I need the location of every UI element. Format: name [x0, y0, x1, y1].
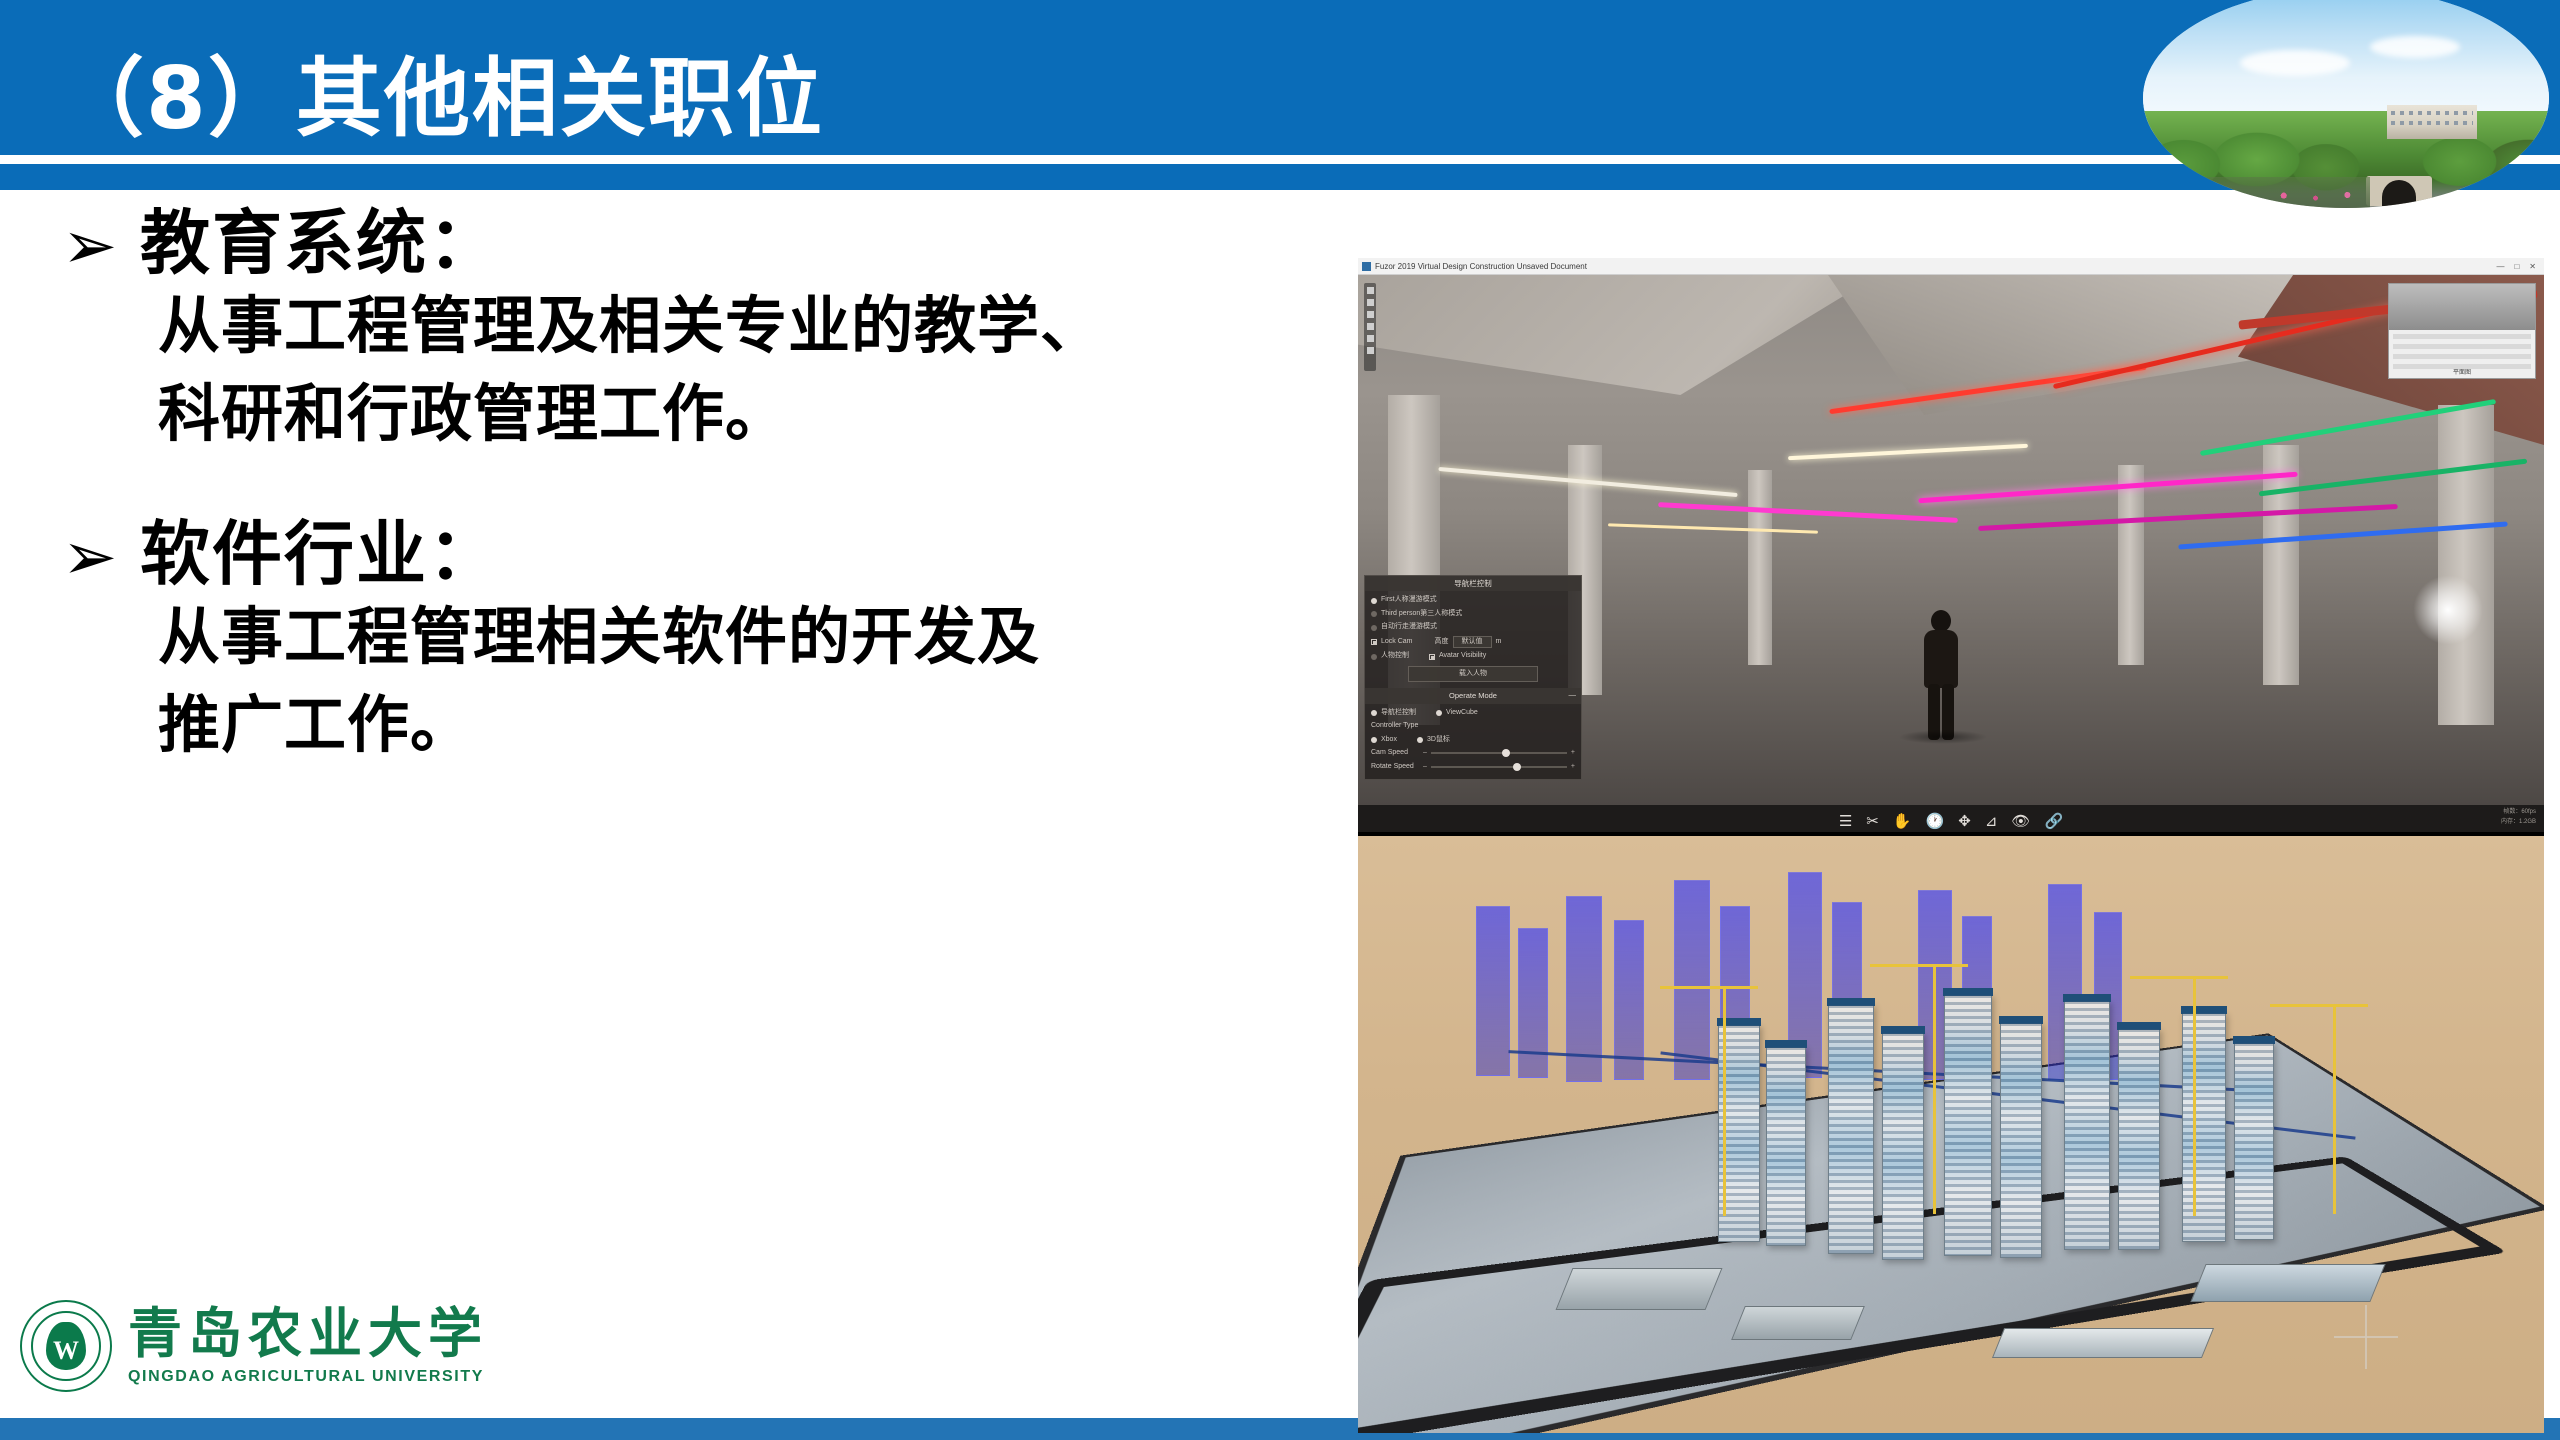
structural-column	[2263, 445, 2299, 685]
logo-name-cn: 青岛农业大学	[128, 1307, 488, 1361]
avatar-figure	[1918, 610, 1964, 740]
eye-icon[interactable]: 👁	[2011, 812, 2030, 830]
tower-roof	[1765, 1040, 1807, 1048]
mep-pipe-magenta	[1978, 504, 2398, 531]
crane-mast	[1933, 964, 1936, 1214]
minimap-label: 平面图	[2389, 367, 2535, 376]
window-controls[interactable]: — □ ✕	[2496, 262, 2540, 271]
move-icon[interactable]: ✥	[1958, 812, 1971, 830]
radio-icon[interactable]	[1436, 710, 1442, 716]
rotate-speed-slider[interactable]	[1431, 766, 1567, 768]
scissors-icon[interactable]: ✂	[1866, 812, 1879, 830]
mep-duct-white	[1788, 444, 2028, 461]
controller-type-row: Controller Type	[1371, 721, 1575, 732]
checkbox-icon[interactable]	[1429, 654, 1435, 660]
structural-column	[2438, 405, 2494, 725]
radio-icon[interactable]	[1371, 710, 1377, 716]
tower-crane	[2298, 1004, 2368, 1214]
minimap-panel[interactable]: 平面图	[2388, 283, 2536, 379]
photo-building	[2387, 105, 2477, 139]
photo-arch-bridge	[2366, 176, 2432, 206]
crane-jib	[2130, 976, 2228, 979]
height-unit: m	[1496, 637, 1502, 648]
crane-mast	[2333, 1004, 2336, 1214]
height-input[interactable]: 默认值	[1453, 636, 1492, 649]
mode-option-auto-walk[interactable]: 自动行走漫游模式	[1371, 622, 1575, 633]
residential-tower	[2118, 1028, 2160, 1250]
structural-column	[2118, 465, 2144, 665]
avatar-head	[1931, 610, 1951, 632]
control-panel-header: 导航栏控制	[1365, 576, 1581, 591]
mode-option-third-person[interactable]: Third person第三人称模式	[1371, 609, 1575, 620]
slider-knob[interactable]	[1513, 763, 1521, 771]
mep-duct-white	[1608, 523, 1818, 533]
site-facility-block	[1992, 1328, 2214, 1358]
app-icon	[1362, 262, 1371, 271]
tower-roof	[2117, 1022, 2161, 1030]
tower-roof	[1999, 1016, 2043, 1024]
radio-icon[interactable]	[1371, 654, 1377, 660]
operate-option-right: ViewCube	[1446, 708, 1478, 719]
mode-label: Third person第三人称模式	[1381, 609, 1462, 620]
tool-icon[interactable]	[1367, 323, 1374, 330]
slide-body: ➢ 教育系统： 从事工程管理及相关专业的教学、 科研和行政管理工作。 ➢ 软件行…	[0, 205, 1340, 1265]
arrow-bullet-icon: ➢	[62, 205, 140, 279]
ghost-tower	[1518, 928, 1548, 1078]
cloud-shape	[2240, 50, 2350, 76]
bim-site-render	[1358, 836, 2544, 1433]
avatar-visibility-label: Avatar Visibility	[1439, 651, 1486, 662]
ceiling-slab	[1358, 275, 1878, 395]
light-glow	[2413, 575, 2483, 645]
crane-mast	[2193, 976, 2196, 1216]
bullet-heading: 软件行业：	[140, 516, 500, 593]
avatar-shadow	[1898, 730, 1988, 744]
crane-jib	[1870, 964, 1968, 967]
controller-right: 3D鼠标	[1427, 735, 1450, 746]
link-icon[interactable]: 🔗	[2044, 812, 2063, 830]
status-fps: 帧数：60fps	[2501, 808, 2536, 818]
operate-mode-options[interactable]: 导航栏控制 ViewCube	[1371, 708, 1575, 719]
bullet-detail-line: 从事工程管理及相关专业的教学、	[158, 282, 1340, 370]
operate-option-left: 导航栏控制	[1381, 708, 1416, 719]
tool-icon[interactable]	[1367, 299, 1374, 306]
load-avatar-button[interactable]: 载入人物	[1408, 666, 1538, 683]
avatar-row[interactable]: 人物控制 Avatar Visibility	[1371, 651, 1575, 662]
cam-speed-label: Cam Speed	[1371, 748, 1419, 759]
fuzor-screenshot: Fuzor 2019 Virtual Design Construction U…	[1358, 258, 2544, 836]
university-logo: 青岛农业大学 QINGDAO AGRICULTURAL UNIVERSITY	[20, 1300, 488, 1392]
status-memory: 内存：1.2GB	[2501, 818, 2536, 828]
avatar-control-label: 人物控制	[1381, 651, 1409, 662]
ghost-tower	[1476, 906, 1510, 1076]
navigation-control-panel[interactable]: 导航栏控制 First人称漫游模式 Third person第三人称模式 自动行…	[1364, 575, 1582, 780]
control-panel-body: First人称漫游模式 Third person第三人称模式 自动行走漫游模式 …	[1365, 591, 1581, 688]
operate-mode-header: Operate Mode —	[1365, 688, 1581, 703]
tower-crane	[1688, 986, 1758, 1216]
controller-type-label: Controller Type	[1371, 721, 1418, 732]
site-office-block	[1731, 1306, 1865, 1340]
controller-options[interactable]: Xbox 3D鼠标	[1371, 735, 1575, 746]
fuzor-title-bar: Fuzor 2019 Virtual Design Construction U…	[1358, 258, 2544, 275]
fuzor-status: 帧数：60fps 内存：1.2GB	[2501, 808, 2536, 827]
bullet-item-software: ➢ 软件行业：	[62, 516, 1340, 593]
structural-column	[1748, 470, 1772, 665]
collapse-icon[interactable]: —	[1569, 689, 1577, 700]
radio-icon[interactable]	[1371, 625, 1377, 631]
bullet-detail-line: 从事工程管理相关软件的开发及	[158, 593, 1340, 681]
increase-icon[interactable]: +	[1571, 762, 1575, 773]
page-title: （8）其他相关职位	[58, 28, 824, 153]
viewport-tool-strip[interactable]	[1364, 283, 1376, 371]
clock-icon[interactable]: 🕐	[1926, 812, 1945, 830]
campus-oval-photo	[2143, 0, 2549, 208]
crane-mast	[1723, 986, 1726, 1216]
arrow-bullet-icon: ➢	[62, 516, 140, 590]
residential-tower	[2000, 1022, 2042, 1258]
mep-pipe-magenta	[1658, 502, 1958, 523]
tool-icon[interactable]	[1367, 335, 1374, 342]
decrease-icon[interactable]: –	[1423, 748, 1427, 759]
operate-mode-body: 导航栏控制 ViewCube Controller Type Xbox 3D鼠标	[1365, 704, 1581, 780]
slider-knob[interactable]	[1502, 749, 1510, 757]
decrease-icon[interactable]: –	[1423, 762, 1427, 773]
residential-tower	[1766, 1046, 1806, 1246]
rotate-speed-label: Rotate Speed	[1371, 762, 1419, 773]
tower-crane	[1898, 964, 1968, 1214]
site-office-block	[1556, 1268, 1723, 1310]
residential-tower	[2064, 1000, 2110, 1250]
photo-flowers	[2143, 177, 2370, 208]
seal-monogram	[46, 1322, 86, 1370]
residential-tower	[1828, 1004, 1874, 1254]
fuzor-window-title: Fuzor 2019 Virtual Design Construction U…	[1375, 262, 1587, 271]
minimize-icon[interactable]: —	[2496, 262, 2504, 271]
cam-speed-row[interactable]: Cam Speed – +	[1371, 748, 1575, 759]
viewport-crosshair-icon	[2334, 1305, 2398, 1369]
operate-mode-title: Operate Mode	[1449, 691, 1497, 700]
site-facility-block	[2190, 1264, 2385, 1302]
crane-jib	[2270, 1004, 2368, 1007]
tower-roof	[2233, 1036, 2275, 1044]
checkbox-icon[interactable]	[1371, 639, 1377, 645]
tower-crane	[2158, 976, 2228, 1216]
list-icon[interactable]: ☰	[1839, 812, 1852, 830]
residential-tower	[2234, 1042, 2274, 1240]
lock-cam-label: Lock Cam	[1381, 637, 1413, 648]
hand-icon[interactable]: ✋	[1893, 812, 1912, 830]
mode-option-first-person[interactable]: First人称漫游模式	[1371, 595, 1575, 606]
image-panel: Fuzor 2019 Virtual Design Construction U…	[1358, 258, 2544, 1433]
maximize-icon[interactable]: □	[2514, 262, 2519, 271]
radio-icon[interactable]	[1371, 737, 1377, 743]
radio-icon[interactable]	[1417, 737, 1423, 743]
rotate-speed-row[interactable]: Rotate Speed – +	[1371, 762, 1575, 773]
close-icon[interactable]: ✕	[2529, 262, 2536, 271]
tool-icon[interactable]	[1367, 311, 1374, 318]
controller-left: Xbox	[1381, 735, 1397, 746]
bullet-detail-line: 推广工作。	[158, 681, 1340, 769]
measure-icon[interactable]: ⊿	[1985, 812, 1998, 830]
fuzor-3d-viewport[interactable]: 平面图 导航栏控制 First人称漫游模式 Third person第三人称模式	[1358, 275, 2544, 805]
control-panel-title: 导航栏控制	[1454, 579, 1492, 588]
bullet-item-education: ➢ 教育系统：	[62, 205, 1340, 282]
mep-pipe-magenta	[1918, 472, 2297, 503]
cam-speed-slider[interactable]	[1431, 752, 1567, 754]
avatar-body	[1924, 630, 1958, 688]
tool-icon[interactable]	[1367, 287, 1374, 294]
tool-icon[interactable]	[1367, 347, 1374, 354]
logo-name-en: QINGDAO AGRICULTURAL UNIVERSITY	[128, 1368, 488, 1386]
height-label: 高度	[1435, 637, 1449, 648]
radio-icon[interactable]	[1371, 611, 1377, 617]
radio-icon[interactable]	[1371, 598, 1377, 604]
university-seal-icon	[20, 1300, 112, 1392]
minimap-preview	[2389, 284, 2535, 330]
bullet-detail-line: 科研和行政管理工作。	[158, 370, 1340, 458]
crane-jib	[1660, 986, 1758, 989]
lock-cam-row[interactable]: Lock Cam 高度 默认值 m	[1371, 636, 1575, 649]
increase-icon[interactable]: +	[1571, 748, 1575, 759]
tower-roof	[2063, 994, 2111, 1002]
bullet-heading: 教育系统：	[140, 205, 500, 282]
mode-label: 自动行走漫游模式	[1381, 622, 1437, 633]
tower-roof	[1827, 998, 1875, 1006]
mode-label: First人称漫游模式	[1381, 595, 1437, 606]
